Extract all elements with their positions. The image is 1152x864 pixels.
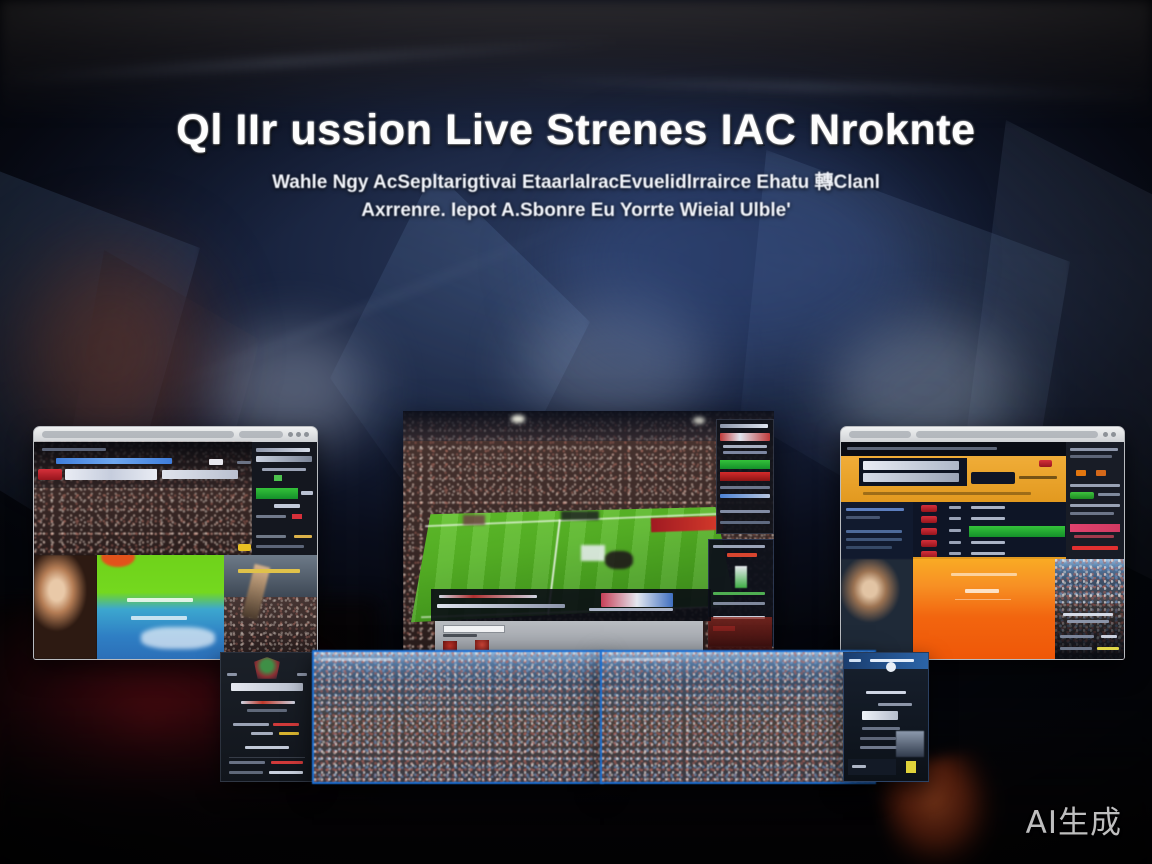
center-bottom-right-block: ████████████	[601, 593, 673, 607]
page-subtitle: Wahle Ngy AcSepltarigtivai EtaarlalracEv…	[0, 169, 1152, 224]
phone-row-4[interactable]: ██████	[860, 737, 896, 740]
table-row[interactable]: ███ ███ ████████	[913, 539, 1066, 548]
right-left-col-header: ███████ ████	[846, 508, 904, 511]
right-thumb-row-value: ███	[1101, 635, 1117, 638]
bottom-card-title: ██████ ██ ████	[231, 683, 303, 691]
right-rail-chip-orange	[1076, 470, 1086, 476]
center-stadium-floodlight-2	[693, 417, 705, 424]
left-headline-small: ████ ████████████	[56, 458, 172, 464]
right-rail-header	[1070, 448, 1118, 451]
right-banner-title-line-2: ████████████	[863, 473, 959, 482]
left-browser-viewport: ████████ ████ ████████████ 0–0 ███ LIVE …	[34, 442, 317, 659]
phone-avatar-icon	[886, 662, 896, 672]
center-stats-row-2: █████ █████	[713, 602, 765, 605]
right-row-label: ████████	[971, 517, 1005, 520]
bottom-crowd-right-caption: ████████	[612, 658, 674, 661]
phone-big-value: █████	[862, 711, 898, 720]
left-headline-main: █████████████ ██████████	[65, 469, 157, 480]
right-row-label: ████████	[971, 506, 1005, 509]
center-stats-score: ███	[727, 553, 757, 557]
right-row-badge: ███	[921, 505, 937, 512]
bottom-card-footer-label-1: █████████	[229, 761, 265, 764]
right-top-strip: ████████ ██████████████████	[841, 442, 1066, 456]
right-thumb-footer-value: █████	[1097, 647, 1119, 650]
center-stats-figure	[735, 566, 747, 588]
bottom-crowd-photo-right[interactable]: ████████	[600, 650, 876, 784]
center-bottom-light-panel[interactable]: ███████ █████ ██ ██	[435, 621, 703, 652]
bottom-card-line-4-accent	[279, 732, 299, 735]
center-overlay-title: ████ ████████	[720, 424, 768, 428]
left-thumb-crowd-fill	[224, 597, 317, 659]
right-row-label: ████████	[971, 552, 1005, 555]
right-left-column: ███████ ████ ███████ ██████████ ████████	[841, 502, 913, 559]
right-row-badge: ███	[921, 528, 937, 535]
bottom-card-divider	[229, 757, 305, 758]
center-overlay-row-5: ████ ████	[720, 510, 770, 513]
bottom-card-footer-value-1: ███ ██ ██	[271, 761, 303, 764]
center-overlay-sidebar[interactable]: ████ ████████ ████ ███ ████ ██ ██ ██ ██ …	[716, 419, 774, 534]
center-overlay-row-2: ██ ██ ██ ██	[723, 445, 767, 448]
left-thumb-fan-photo[interactable]	[34, 555, 97, 659]
table-row[interactable]: ███ ███ ████████	[913, 504, 1066, 513]
page-subtitle-line-1: Wahle Ngy AcSepltarigtivai EtaarlalracEv…	[0, 169, 1152, 197]
right-row-time: ███	[949, 541, 961, 544]
left-thumb-caption-top: ████ ████████	[127, 598, 193, 602]
right-banner-live-tag: LIVE	[1039, 460, 1052, 467]
right-browser-window[interactable]: ████████ ██████████████████ ████████████…	[840, 426, 1125, 660]
left-sidebar-red-chip	[292, 514, 302, 519]
bottom-card-line-5: █████████	[245, 746, 289, 749]
center-stadium-floodlight-1	[511, 415, 525, 423]
left-score: 0–0	[209, 459, 223, 465]
center-bottom-right-sub	[589, 608, 673, 611]
left-headline-main-2	[162, 470, 238, 479]
bottom-card-line-2: ████████	[247, 709, 287, 712]
right-rail-pink-note: ███ ██ █	[1074, 535, 1114, 538]
right-rail-row-2: █ ██ ██ ███ ██ ██	[1070, 504, 1120, 507]
left-browser-url-bar[interactable]	[42, 431, 234, 438]
left-sidebar-footer-value: ████	[294, 535, 312, 538]
left-sidebar-header: ███ ██████	[256, 448, 310, 452]
bottom-crowd-left-caption: ███ ███████	[322, 658, 392, 661]
left-thumb-crowd-photo[interactable]: ████ ██ ██	[224, 555, 317, 659]
right-rail-red-chip: ██████	[1072, 546, 1118, 550]
right-left-col-sub: ███████	[846, 516, 880, 519]
page-title: Ql IIr ussion Live Strenes IAC Nroknte	[0, 106, 1152, 155]
left-header-strip: ████████	[42, 448, 106, 451]
bottom-card-line-1: ██████ ████ ███	[241, 701, 295, 704]
watermark: AI生成	[1026, 797, 1122, 842]
center-stats-title: ██████ ███	[713, 545, 765, 548]
left-sidebar: ███ ██████ █████████ ████████ ██████ ███…	[252, 442, 317, 555]
right-banner-footnote	[863, 492, 1031, 495]
right-browser-url-bar[interactable]	[849, 431, 911, 438]
center-pitch-group-b	[605, 551, 633, 569]
bottom-card-footer-value-2: ███ █████	[269, 771, 303, 774]
right-row-label: ████████	[971, 541, 1005, 544]
right-row-badge: ███	[921, 516, 937, 523]
right-top-strip-text: ████████ ██████████████████	[847, 447, 997, 450]
right-rail-subheader	[1070, 455, 1112, 458]
center-perimeter-board	[651, 516, 723, 533]
right-row-highlight[interactable]: ██ ██ ███ ███ █ █ █ █	[969, 526, 1065, 537]
left-clock: ███	[237, 461, 251, 464]
center-overlay-row-1: ████ ███ ████	[720, 433, 770, 441]
left-sidebar-mini-chip	[274, 475, 282, 481]
phone-row-3[interactable]: ██████	[862, 727, 900, 730]
right-orange-card-value: █████	[965, 589, 999, 593]
left-sidebar-footer-row	[256, 545, 304, 548]
bottom-card-side-left: ██	[227, 673, 237, 676]
right-rail-pink-chip: ████	[1070, 524, 1120, 532]
right-row-time: ███	[949, 552, 961, 555]
left-sidebar-subheader: █████████	[256, 456, 312, 462]
right-schedule-list[interactable]: ███ ███ ████████ ███ ███ ████████ ███ ██…	[913, 502, 1066, 559]
right-left-col-item-1[interactable]: ██████████	[846, 530, 902, 533]
left-browser-window-controls[interactable]	[288, 432, 309, 437]
left-thumb-gradient-card[interactable]: ████ ████████ ██████ █ ████	[97, 555, 224, 659]
right-thumb-caption-top: ████ █████	[1063, 613, 1113, 616]
center-overlay-row-4: ████████ ███	[720, 494, 770, 498]
center-overlay-row-2b	[723, 451, 767, 454]
center-pitch-group-d	[561, 511, 599, 520]
right-left-col-item-3[interactable]	[846, 546, 892, 549]
center-stadium-window[interactable]: ████ ████████ ████ ███ ████ ██ ██ ██ ██ …	[403, 411, 774, 652]
right-orange-card-divider	[955, 599, 1011, 600]
right-browser-viewport: ████████ ██████████████████ ████████████…	[841, 442, 1124, 659]
poster-title-block: Ql IIr ussion Live Strenes IAC Nroknte W…	[0, 106, 1152, 224]
center-overlay-row-6	[720, 521, 770, 524]
right-orange-card[interactable]: ██████████ █████	[913, 559, 1055, 659]
center-bottom-overlay[interactable]: ██ ████ ██ ███ ████ █████████ ██████████…	[431, 589, 711, 621]
left-thumb-caption: ████ ██ ██	[238, 569, 300, 573]
left-sidebar-label: ████████	[262, 468, 306, 471]
center-overlay-red-bar: ████████	[720, 472, 770, 481]
right-banner-pill-note: ██████ ████	[1019, 476, 1057, 479]
bottom-crowd-photo-left[interactable]: ███ ███████	[312, 650, 604, 784]
center-bottom-panel-field[interactable]: ███████	[443, 625, 505, 633]
center-pitch-group-a	[581, 545, 605, 561]
left-browser-window[interactable]: ████████ ████ ████████████ 0–0 ███ LIVE …	[33, 426, 318, 660]
right-rail-green-note: ██ ██	[1098, 493, 1120, 496]
bottom-card-line-3: ██████ ██ █████	[233, 723, 269, 726]
right-row-time: ███	[949, 529, 961, 532]
right-thumb-row-label: ███████	[1060, 635, 1094, 638]
phone-row-1: ███████	[866, 691, 906, 694]
right-thumb-crowd-photo[interactable]: ████ █████ ████ ██ ███ ███████ ███ ██ ██…	[1055, 559, 1124, 659]
right-rail-row-2b	[1070, 512, 1114, 515]
right-rail-row-1: █ ██ ██ ███ ██ ██	[1070, 484, 1120, 487]
right-banner-title-block: ████████████ ████████████	[859, 458, 967, 486]
right-amber-banner[interactable]: ████████████ ████████████ LIVE ████████ …	[841, 456, 1066, 502]
center-overlay-row-3: ███████████	[720, 486, 770, 489]
left-thumb-sun	[101, 555, 135, 567]
center-stats-card-footer-glow	[708, 617, 772, 651]
left-sidebar-mid-label: █████	[274, 504, 300, 508]
left-corner-tag: ███	[238, 544, 251, 551]
phone-badge-yellow	[906, 761, 916, 773]
center-bottom-panel-caption: █████ ██ ██	[443, 634, 477, 637]
right-thumb-fans-photo[interactable]	[841, 559, 913, 659]
left-sidebar-footer-label: ██████	[256, 535, 286, 538]
right-thumb-footer-label: ██ ████	[1060, 647, 1092, 650]
phone-footer: ███	[852, 765, 866, 768]
phone-row-2: ████ ██	[878, 703, 912, 706]
bottom-mobile-app-panel[interactable]: ███ ████████ ███████ ████ ██ █████ █████…	[843, 652, 929, 782]
left-thumb-caption-bottom: ██████ █ ████	[131, 616, 187, 620]
right-banner-title-line-1: ████████████	[863, 461, 959, 470]
table-row[interactable]: ███ ███ ████████	[913, 515, 1066, 524]
center-bottom-panel-logo-2	[475, 640, 489, 650]
left-sidebar-red-row: █████	[256, 515, 286, 518]
right-row-time: ███	[949, 506, 961, 509]
phone-status-label: ███	[849, 659, 861, 662]
bottom-card-side-right: ██	[297, 673, 307, 676]
bottom-card-line-4: ███ ██ ██ █████	[251, 732, 273, 735]
left-sidebar-green-row[interactable]: ██████	[256, 488, 298, 499]
table-row[interactable]: ███ ███ ██ ██ ███ ███ █ █ █ █	[913, 526, 1066, 537]
right-thumb-scrim	[1055, 603, 1124, 659]
right-row-time: ███	[949, 517, 961, 520]
left-live-badge: LIVE	[38, 469, 62, 480]
left-sidebar-green-value: ████	[301, 491, 313, 495]
page-subtitle-line-2: Axrrenre. Iepot A.Sbonre Eu Yorrte Wieia…	[0, 197, 1152, 225]
right-thumb-caption-sub: ████ ██ ███	[1067, 620, 1109, 623]
left-thumb-cloud	[141, 627, 215, 649]
center-pitch-group-c	[463, 515, 485, 525]
center-overlay-green-bar: █████████	[720, 460, 770, 469]
bottom-card-line-3-accent	[273, 723, 299, 726]
right-rail-chip-orange-2	[1096, 470, 1106, 476]
right-orange-card-caption: ██████████	[951, 573, 1017, 576]
poster-canvas: Ql IIr ussion Live Strenes IAC Nroknte W…	[0, 0, 1152, 864]
club-crest-icon	[254, 657, 280, 679]
center-bottom-caption: █████████ ███████████	[437, 604, 565, 608]
left-browser-titlebar[interactable]	[34, 427, 317, 442]
bottom-info-card[interactable]: ██ ██ ██████ ██ ████ ██████ ████ ███ ███…	[220, 652, 314, 782]
right-rail[interactable]: █ ██ ██ ███ ██ ██ ███ ██ ██ █ ██ ██ ███ …	[1066, 442, 1124, 559]
phone-thumb[interactable]	[896, 731, 924, 757]
right-left-col-item-2[interactable]: ████████	[846, 538, 902, 541]
right-browser-window-controls[interactable]	[1103, 432, 1116, 437]
right-browser-titlebar[interactable]	[841, 427, 1124, 442]
center-bottom-ticker: ██ ████ ██ ███ ████	[439, 595, 537, 598]
center-stats-row-1: ██████ ████	[713, 592, 765, 595]
bottom-card-footer-label-2: █████ ████	[229, 771, 263, 774]
left-browser-tab[interactable]	[239, 431, 283, 438]
right-banner-pill[interactable]: ████████	[971, 472, 1015, 484]
right-rail-green-chip: ███	[1070, 492, 1094, 499]
right-row-badge: ███	[921, 540, 937, 547]
right-browser-tab[interactable]	[916, 431, 1098, 438]
